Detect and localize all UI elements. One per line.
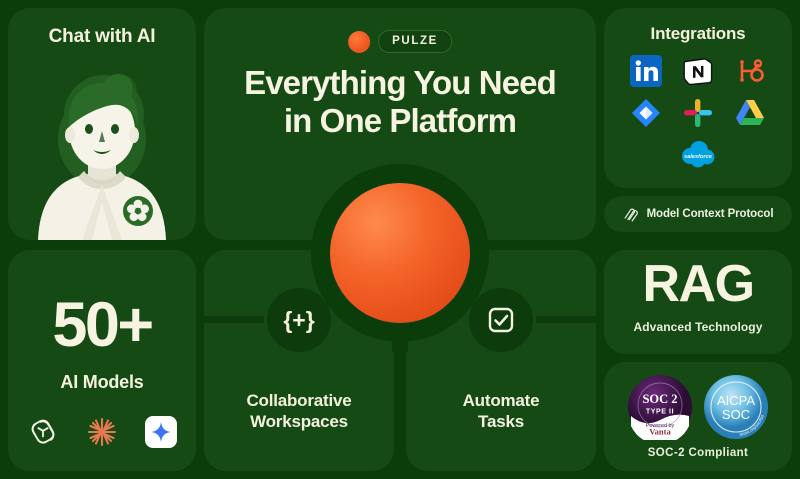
mcp-layers-icon bbox=[623, 206, 640, 223]
integration-hubspot[interactable] bbox=[733, 54, 767, 88]
brand-name: PULZE bbox=[378, 30, 452, 53]
chat-with-ai-panel[interactable]: Chat with AI bbox=[8, 8, 196, 240]
rag-title: RAG bbox=[604, 258, 792, 310]
ai-models-label: AI Models bbox=[8, 372, 196, 393]
ai-model-logos bbox=[8, 415, 196, 449]
avatar bbox=[8, 65, 196, 240]
mcp-label: Model Context Protocol bbox=[647, 208, 774, 220]
ai-models-count: 50+ bbox=[8, 294, 196, 357]
collaborative-workspaces-node: {+} bbox=[267, 288, 331, 352]
integration-salesforce[interactable]: salesforce bbox=[618, 140, 778, 168]
aicpa-line2: SOC bbox=[722, 407, 750, 422]
orange-dot-icon bbox=[348, 31, 370, 53]
soc2-line2: TYPE II bbox=[646, 409, 674, 416]
curly-plus-icon: {+} bbox=[283, 307, 314, 334]
svg-text:salesforce: salesforce bbox=[684, 154, 712, 160]
openai-icon[interactable] bbox=[26, 415, 60, 449]
model-context-protocol-chip[interactable]: Model Context Protocol bbox=[604, 196, 792, 232]
ai-models-panel[interactable]: 50+ AI Models bbox=[8, 250, 196, 471]
integration-slack[interactable] bbox=[681, 96, 715, 130]
collaborative-workspaces-label: Collaborative Workspaces bbox=[216, 390, 382, 433]
page-title: Everything You Need in One Platform bbox=[222, 64, 578, 141]
connector-line-right bbox=[536, 316, 596, 323]
google-drive-icon bbox=[733, 96, 767, 130]
hubspot-icon bbox=[733, 54, 767, 88]
hero-title-line-2: in One Platform bbox=[222, 102, 578, 140]
rag-subtitle: Advanced Technology bbox=[604, 320, 792, 334]
feature-label-line-2: Tasks bbox=[418, 411, 584, 432]
feature-label-line-2: Workspaces bbox=[216, 411, 382, 432]
jira-icon bbox=[629, 96, 663, 130]
integrations-panel[interactable]: Integrations bbox=[604, 8, 792, 188]
compliance-label: SOC-2 Compliant bbox=[604, 447, 792, 459]
checkbox-checked-icon bbox=[487, 306, 515, 334]
rag-panel[interactable]: RAG Advanced Technology bbox=[604, 250, 792, 354]
integration-jira[interactable] bbox=[629, 96, 663, 130]
feature-label-line-1: Automate bbox=[418, 390, 584, 411]
salesforce-icon: salesforce bbox=[678, 140, 718, 168]
compliance-panel[interactable]: SOC 2 TYPE II Powered by Vanta AICPA bbox=[604, 362, 792, 471]
chat-panel-title: Chat with AI bbox=[8, 26, 196, 48]
soc2-line1: SOC 2 bbox=[642, 392, 677, 406]
hero-title-line-1: Everything You Need bbox=[222, 64, 578, 102]
soc2-type2-vanta-badge: SOC 2 TYPE II Powered by Vanta bbox=[627, 374, 693, 440]
soc2-line4: Vanta bbox=[649, 427, 671, 437]
automate-tasks-node bbox=[469, 288, 533, 352]
integrations-title: Integrations bbox=[604, 24, 792, 44]
automate-tasks-label: Automate Tasks bbox=[418, 390, 584, 433]
gemini-icon[interactable] bbox=[144, 415, 178, 449]
linkedin-icon bbox=[629, 54, 663, 88]
aicpa-line1: AICPA bbox=[717, 393, 755, 408]
central-orange-sphere bbox=[330, 183, 470, 323]
compliance-badges: SOC 2 TYPE II Powered by Vanta AICPA bbox=[604, 374, 792, 440]
ai-assistant-avatar-illustration bbox=[8, 65, 196, 240]
notion-icon bbox=[681, 54, 715, 88]
infographic-canvas: Chat with AI bbox=[0, 0, 800, 479]
integrations-grid: salesforce bbox=[618, 54, 778, 168]
aicpa-soc-badge: AICPA SOC aicpa.org/soc4so bbox=[703, 374, 769, 440]
flower-badge-icon bbox=[123, 196, 153, 226]
feature-label-line-1: Collaborative bbox=[216, 390, 382, 411]
integration-linkedin[interactable] bbox=[629, 54, 663, 88]
slack-icon bbox=[681, 96, 715, 130]
integration-notion[interactable] bbox=[681, 54, 715, 88]
claude-icon[interactable] bbox=[86, 416, 118, 448]
brand-badge: PULZE bbox=[348, 30, 452, 53]
connector-line-left bbox=[204, 316, 264, 323]
integration-google-drive[interactable] bbox=[733, 96, 767, 130]
